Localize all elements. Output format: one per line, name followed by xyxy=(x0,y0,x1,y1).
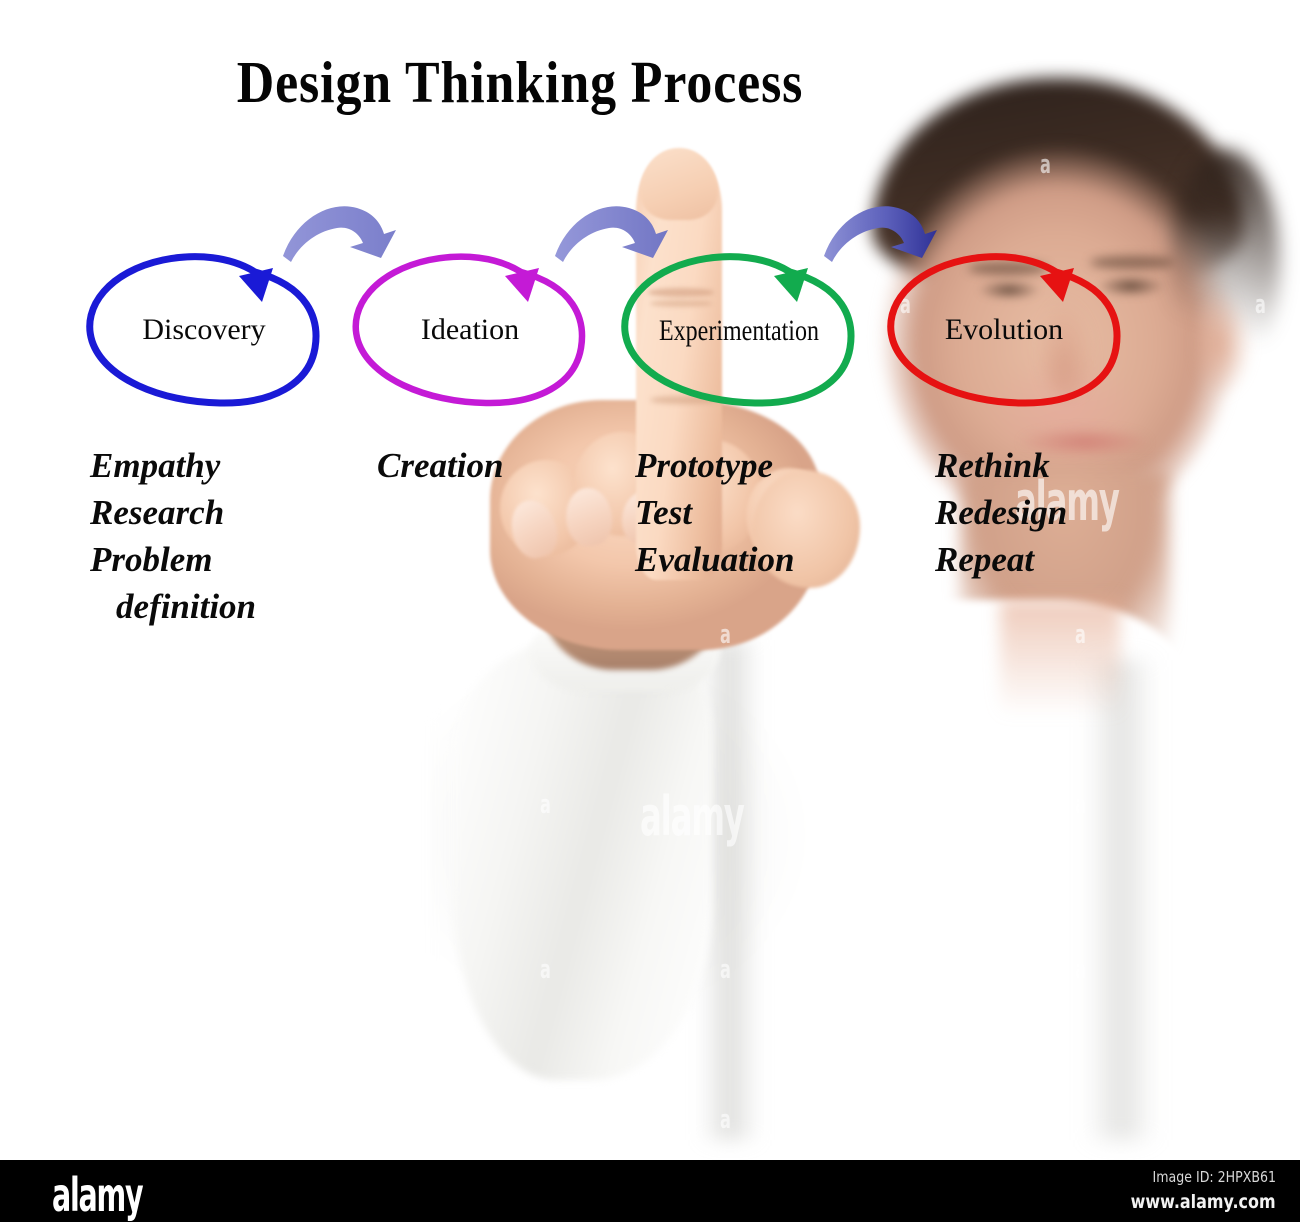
image-canvas: a a alamy a a a a a alamy a a a a alamy … xyxy=(0,0,1300,1222)
list-item: Creation xyxy=(377,443,503,490)
list-item: definition xyxy=(90,584,256,631)
stage-items-ideation: Creation xyxy=(377,443,503,490)
design-thinking-diagram: Discovery Ideation Experimentation Evolu… xyxy=(0,0,1300,700)
shirt-sleeve xyxy=(452,640,712,1080)
footer-bar: alamy Image ID: 2HPXB61 www.alamy.com xyxy=(0,1160,1300,1222)
stage-items-evolution: Rethink Redesign Repeat xyxy=(935,443,1067,584)
list-item: Redesign xyxy=(935,490,1067,537)
stage-label-experimentation: Experimentation xyxy=(645,316,834,346)
list-item: Test xyxy=(635,490,794,537)
stage-items-discovery: Empathy Research Problem definition xyxy=(90,443,256,631)
curved-arrow-icon-2 xyxy=(555,206,668,262)
alamy-logo: alamy xyxy=(52,1168,142,1222)
stage-label-evolution: Evolution xyxy=(892,315,1116,345)
list-item: Empathy xyxy=(90,443,256,490)
curved-arrow-icon-1 xyxy=(283,206,396,262)
curved-arrow-icon-3 xyxy=(824,206,937,262)
stage-label-discovery: Discovery xyxy=(92,315,316,345)
alamy-url[interactable]: www.alamy.com xyxy=(1131,1191,1276,1213)
stage-label-ideation: Ideation xyxy=(358,315,582,345)
image-id-label: Image ID: 2HPXB61 xyxy=(1152,1168,1276,1186)
stage-items-experimentation: Prototype Test Evaluation xyxy=(635,443,794,584)
list-item: Evaluation xyxy=(635,537,794,584)
list-item: Rethink xyxy=(935,443,1067,490)
list-item: Research xyxy=(90,490,256,537)
list-item: Repeat xyxy=(935,537,1067,584)
list-item: Prototype xyxy=(635,443,794,490)
list-item: Problem xyxy=(90,537,256,584)
